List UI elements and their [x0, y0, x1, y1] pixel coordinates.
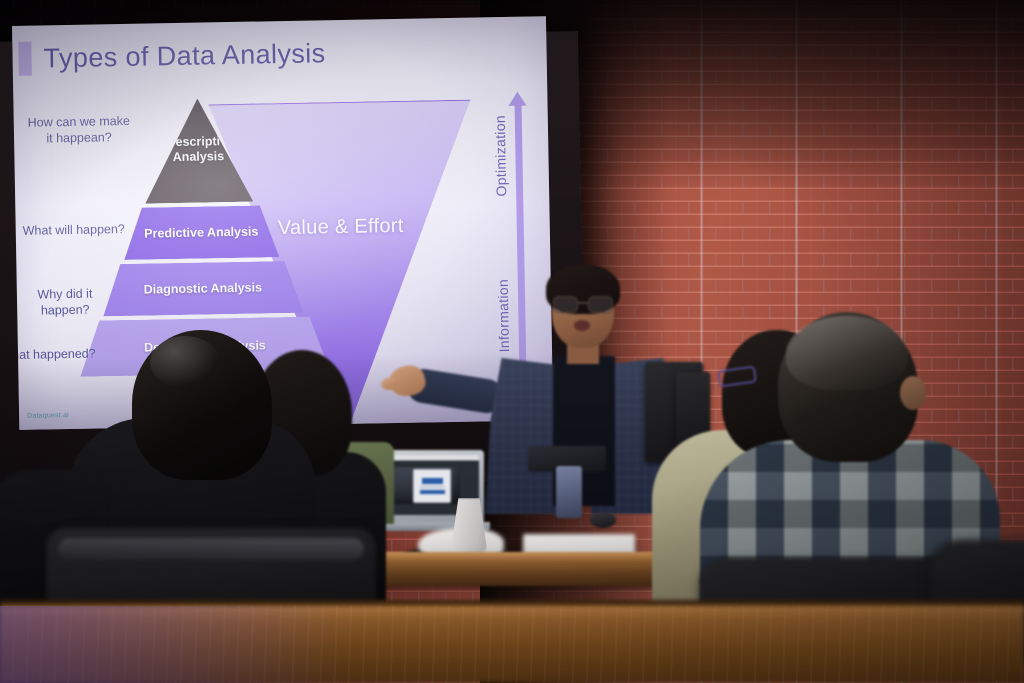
- question-descriptive: What happened?: [12, 347, 96, 365]
- presenter-glasses-icon: [553, 296, 613, 311]
- axis-label-optimization: Optimization: [492, 115, 509, 197]
- question-diagnostic: Why did it happen?: [15, 286, 116, 319]
- presentation-room-photo: Types of Data Analysis Value & Effort Pr…: [0, 0, 1024, 683]
- phone: [556, 466, 582, 518]
- mouse: [590, 512, 616, 528]
- pyramid-layer-diagnostic: Diagnostic Analysis: [102, 261, 303, 317]
- dialog-logo-icon: [422, 478, 443, 484]
- question-predictive: What will happen?: [22, 222, 126, 240]
- dialog-input-line: [420, 486, 445, 488]
- pyramid-layer-predictive: Predictive Analysis: [123, 205, 279, 260]
- laptop-login-dialog: [413, 469, 451, 502]
- question-prescriptive: How can we make it happean?: [24, 114, 135, 148]
- pyramid-layer-prescriptive-label: Prescriptive Analysis: [144, 134, 253, 165]
- dialog-submit-button: [420, 490, 445, 494]
- slide-logo-left: Dataquest.ai: [27, 412, 69, 420]
- pyramid-layer-predictive-label: Predictive Analysis: [144, 224, 258, 241]
- title-accent-bar: [18, 42, 32, 76]
- presenter-mouth: [574, 320, 590, 331]
- front-desk: [0, 606, 1024, 683]
- attendee-plaid-hair: [786, 316, 908, 390]
- pyramid-layer-diagnostic-label: Diagnostic Analysis: [144, 280, 263, 297]
- slide-title: Types of Data Analysis: [43, 38, 325, 74]
- attendee-1-hair-highlight: [150, 336, 220, 388]
- slide-title-row: Types of Data Analysis: [18, 36, 326, 76]
- pyramid-layer-prescriptive: Prescriptive Analysis: [143, 98, 253, 204]
- attendee-plaid-ear: [900, 376, 926, 410]
